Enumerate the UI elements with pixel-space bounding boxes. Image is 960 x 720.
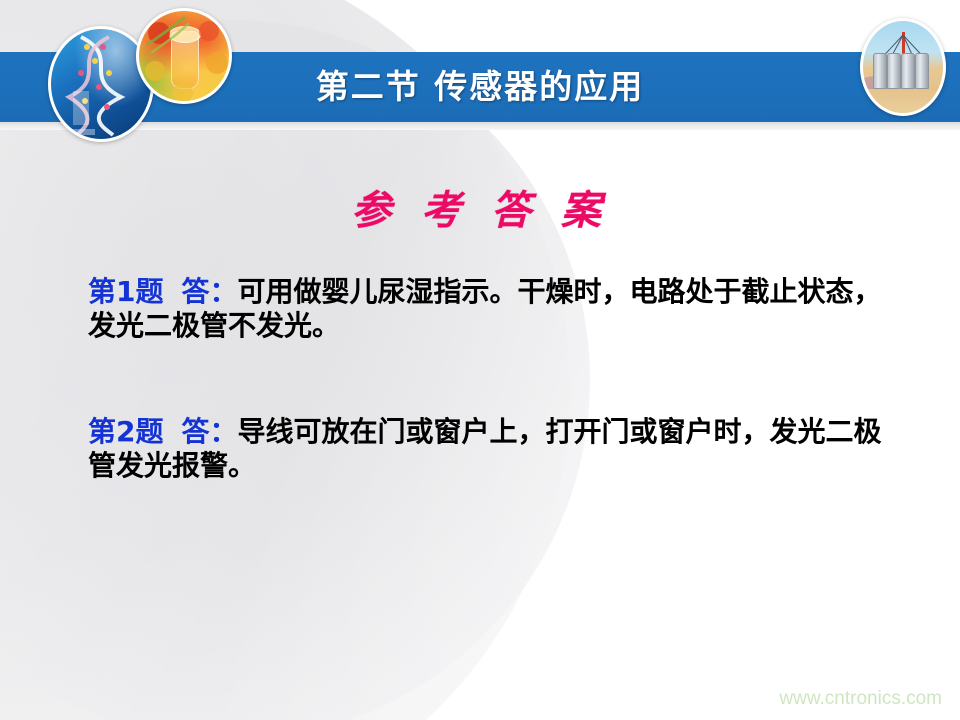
fruit-juice-photo bbox=[136, 8, 232, 104]
answer-2-answer-label: 答： bbox=[181, 415, 237, 448]
silo-tank-shape bbox=[915, 53, 929, 89]
answer-2-number-label: 第2题 bbox=[88, 415, 163, 448]
silo-tank-shape bbox=[887, 53, 901, 89]
grain-silo-photo bbox=[860, 18, 946, 116]
answer-1-number-label: 第1题 bbox=[88, 275, 163, 308]
site-watermark: www.cntronics.com bbox=[779, 688, 942, 710]
answers-heading: 参 考 答 案 bbox=[0, 178, 960, 236]
fruit-shapes-icon bbox=[139, 11, 229, 101]
answer-item-1: 第1题答：可用做婴儿尿湿指示。干燥时，电路处于截止状态，发光二极管不发光。 bbox=[88, 275, 888, 343]
silo-tank-shape bbox=[873, 53, 887, 89]
slide-root: 第二节 传感器的应用 bbox=[0, 0, 960, 720]
answer-item-2: 第2题答：导线可放在门或窗户上，打开门或窗户时，发光二极管发光报警。 bbox=[88, 415, 888, 483]
answer-1-answer-label: 答： bbox=[181, 275, 237, 308]
silo-tank-shape bbox=[901, 53, 915, 89]
